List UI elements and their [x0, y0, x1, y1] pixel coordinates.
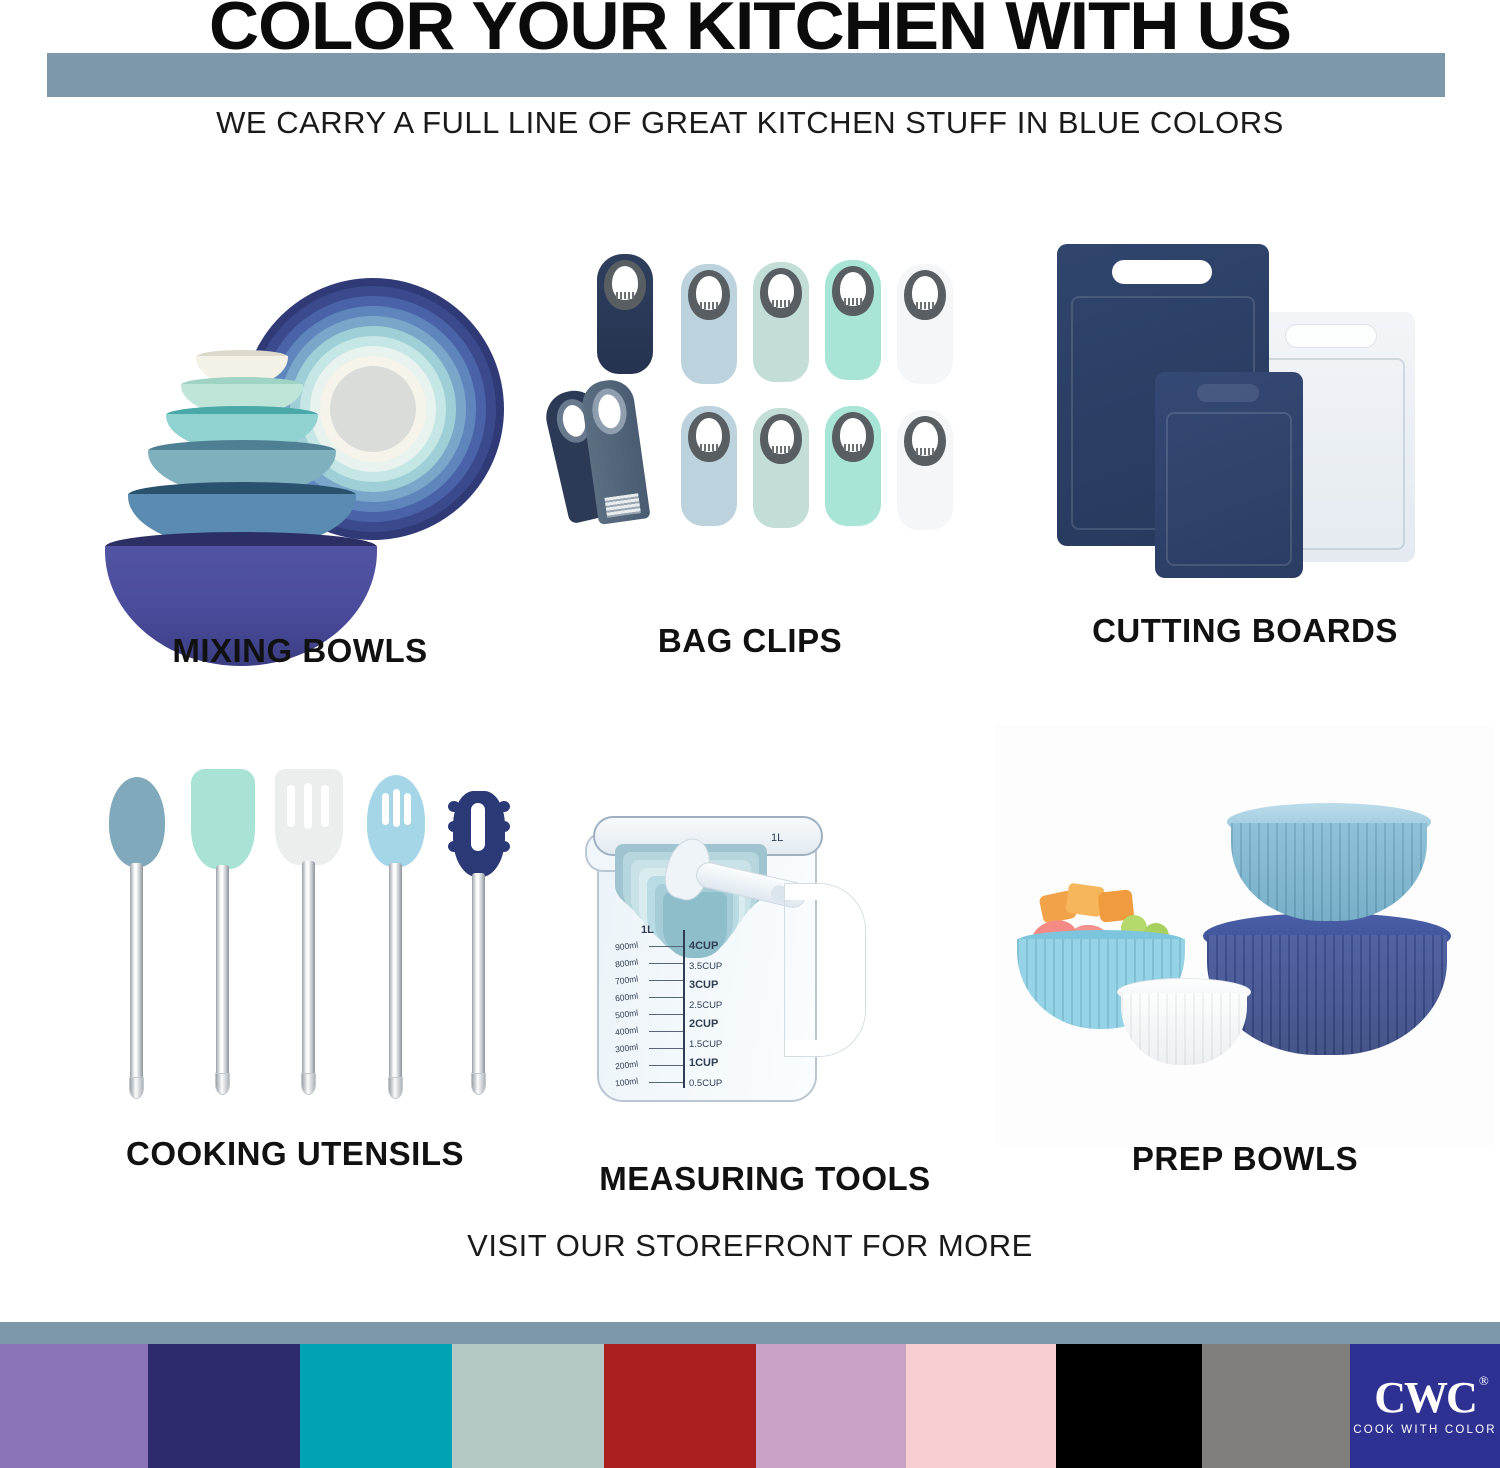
- color-swatch-gray: [1202, 1344, 1350, 1468]
- color-swatch-pink: [906, 1344, 1056, 1468]
- utensil-slotted-turner: [275, 769, 341, 1127]
- scale-cup-0-5: 0.5CUP: [689, 1078, 722, 1089]
- measuring-tools-illustration: 1L 1L 900ml 800ml 700ml 600ml 500ml: [575, 780, 955, 1135]
- product-cell-bag-clips: BAG CLIPS: [545, 240, 955, 670]
- scale-cup-2-5: 2.5CUP: [689, 1000, 722, 1011]
- product-cell-mixing-bowls: MIXING BOWLS: [100, 250, 500, 670]
- scale-cup-3: 3CUP: [689, 979, 718, 991]
- header-subtitle: WE CARRY A FULL LINE OF GREAT KITCHEN ST…: [0, 105, 1500, 141]
- product-infographic: COLOR YOUR KITCHEN WITH US WE CARRY A FU…: [0, 0, 1500, 1468]
- scale-cup-1: 1CUP: [689, 1057, 718, 1069]
- utensil-slotted-spoon: [362, 775, 428, 1127]
- product-cell-measuring-tools: 1L 1L 900ml 800ml 700ml 600ml 500ml: [575, 780, 955, 1205]
- page-title: COLOR YOUR KITCHEN WITH US: [0, 0, 1500, 60]
- scale-cup-4: 4CUP: [689, 940, 718, 952]
- caption-cutting-boards: CUTTING BOARDS: [1035, 612, 1455, 650]
- caption-measuring-tools: MEASURING TOOLS: [575, 1160, 955, 1198]
- color-swatch-purple: [0, 1344, 148, 1468]
- caption-mixing-bowls: MIXING BOWLS: [100, 632, 500, 670]
- utensil-spoon: [103, 777, 169, 1127]
- color-swatch-orchid: [756, 1344, 906, 1468]
- caption-bag-clips: BAG CLIPS: [545, 622, 955, 660]
- prep-bowls-illustration: [995, 725, 1495, 1135]
- registered-trademark-icon: ®: [1479, 1374, 1489, 1387]
- brand-logo-swatch: CWC®COOK WITH COLOR: [1350, 1344, 1500, 1468]
- cutting-boards-illustration: [1035, 230, 1455, 600]
- cooking-utensils-illustration: [85, 755, 505, 1125]
- utensil-spatula: [189, 769, 255, 1127]
- color-swatch-navy: [148, 1344, 300, 1468]
- scale-liter: 1L: [641, 924, 654, 936]
- product-cell-prep-bowls: PREP BOWLS: [995, 725, 1495, 1205]
- caption-prep-bowls: PREP BOWLS: [995, 1140, 1495, 1178]
- prep-bowl-white: [1121, 993, 1247, 1065]
- measuring-jug-handle: [785, 884, 865, 1056]
- cutting-board-navy-small: [1155, 372, 1303, 578]
- utensil-pasta-server: [445, 791, 511, 1127]
- brand-logo: CWC®COOK WITH COLOR: [1350, 1344, 1500, 1468]
- lid-mark: 1L: [771, 832, 783, 844]
- mixing-bowls-illustration: [100, 250, 500, 610]
- logo-tagline: COOK WITH COLOR: [1353, 1424, 1497, 1436]
- scale-cup-3-5: 3.5CUP: [689, 961, 722, 972]
- scale-cup-1-5: 1.5CUP: [689, 1039, 722, 1050]
- color-swatch-teal: [300, 1344, 452, 1468]
- logo-mark: CWC®: [1374, 1376, 1476, 1420]
- bag-clips-illustration: [545, 240, 955, 600]
- color-swatch-sage: [452, 1344, 604, 1468]
- product-cell-cutting-boards: CUTTING BOARDS: [1035, 230, 1455, 670]
- caption-cooking-utensils: COOKING UTENSILS: [85, 1135, 505, 1173]
- color-swatch-red: [604, 1344, 756, 1468]
- product-cell-cooking-utensils: COOKING UTENSILS: [85, 755, 505, 1205]
- color-swatch-strip: CWC®COOK WITH COLOR: [0, 1344, 1500, 1468]
- scale-cup-2: 2CUP: [689, 1018, 718, 1030]
- color-swatch-black: [1056, 1344, 1202, 1468]
- footer-band: [0, 1322, 1500, 1344]
- prep-bowl-blue: [1231, 823, 1427, 921]
- visit-storefront-text: VISIT OUR STOREFRONT FOR MORE: [0, 1228, 1500, 1264]
